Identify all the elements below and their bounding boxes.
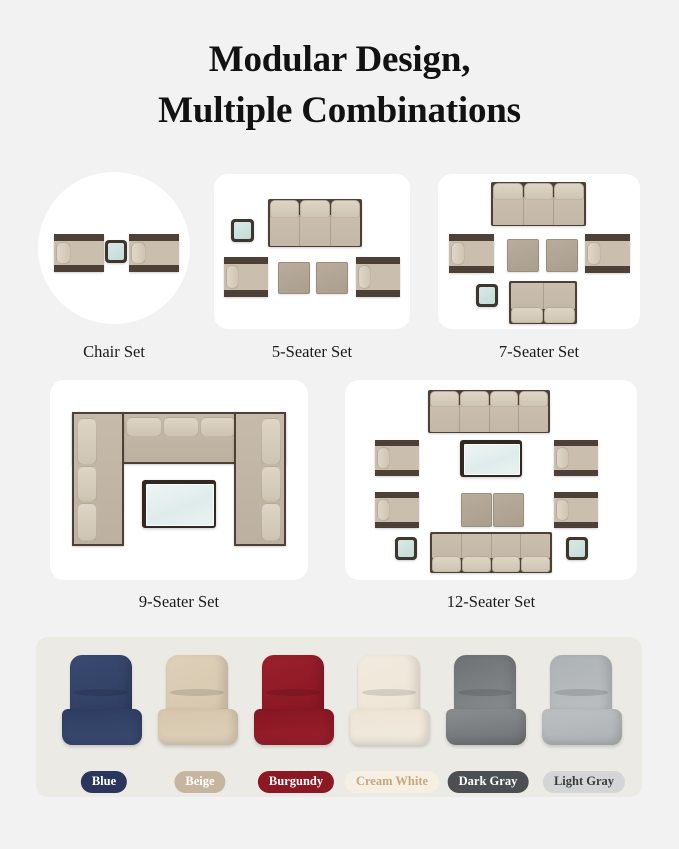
three-seat-sofa-piece	[268, 199, 362, 247]
color-label-light-gray[interactable]: Light Gray	[543, 771, 625, 793]
set-label-5-seater-set: 5-Seater Set	[212, 342, 412, 362]
chair-frame-rail-bottom	[375, 470, 419, 476]
cushion-seat	[446, 709, 526, 745]
color-swatch-burgundy[interactable]: Burgundy	[250, 655, 342, 763]
chair-frame-rail-top	[585, 234, 630, 241]
chair-arm-cushion	[377, 499, 390, 521]
chair-frame-rail-top	[356, 257, 400, 264]
ottoman-piece	[316, 262, 348, 294]
cushion-seat	[158, 709, 238, 745]
page-title-line-1: Modular Design,	[0, 34, 679, 85]
sectional-back-cushion	[261, 503, 281, 541]
chair-frame-rail-bottom	[554, 470, 598, 476]
color-swatch-cream-white[interactable]: Cream White	[346, 655, 438, 763]
sectional-back-cushion	[261, 466, 281, 502]
chair-frame-rail-bottom	[54, 265, 104, 272]
sofa-back-cushions	[270, 200, 360, 218]
chair-piece	[554, 492, 598, 528]
chair-piece	[54, 234, 104, 272]
chair-piece	[449, 234, 494, 273]
sofa-seat	[432, 534, 550, 558]
cushion-crease	[170, 689, 224, 696]
sectional-back-cushion	[77, 503, 97, 541]
cushion-crease	[74, 689, 128, 696]
set-label-chair-set: Chair Set	[10, 342, 218, 362]
set-card-7-seater-set[interactable]	[438, 174, 640, 329]
cushion-seat	[542, 709, 622, 745]
cushion-illustration	[442, 655, 534, 747]
sofa-back-cushions	[432, 556, 550, 572]
cushion-backrest	[454, 655, 516, 717]
four-seat-sofa-piece	[428, 390, 550, 433]
cushion-crease	[458, 689, 512, 696]
set-label-7-seater-set: 7-Seater Set	[438, 342, 640, 362]
cushion-backrest	[358, 655, 420, 717]
color-swatch-dark-gray[interactable]: Dark Gray	[442, 655, 534, 763]
cushion-illustration	[154, 655, 246, 747]
sofa-seat	[430, 405, 548, 432]
chair-arm-cushion	[556, 447, 569, 469]
chair-piece	[129, 234, 179, 272]
cushion-seat	[350, 709, 430, 745]
color-label-burgundy[interactable]: Burgundy	[258, 771, 334, 793]
chair-frame-rail-top	[449, 234, 494, 241]
color-swatch-blue[interactable]: Blue	[58, 655, 150, 763]
chair-frame-rail-bottom	[356, 290, 400, 297]
ottoman-piece	[546, 239, 578, 272]
color-swatch-beige[interactable]: Beige	[154, 655, 246, 763]
chair-arm-cushion	[451, 242, 465, 265]
two-seat-sofa-piece	[509, 281, 577, 324]
three-seat-sofa-piece	[491, 182, 586, 226]
sectional-back-cushion	[200, 417, 236, 437]
chair-frame-rail-bottom	[224, 290, 268, 297]
set-label-12-seater-set: 12-Seater Set	[345, 592, 637, 612]
chair-frame-rail-top	[54, 234, 104, 241]
ottoman-piece	[461, 493, 492, 527]
set-label-9-seater-set: 9-Seater Set	[50, 592, 308, 612]
cushion-illustration	[538, 655, 630, 747]
color-label-dark-gray[interactable]: Dark Gray	[448, 771, 529, 793]
sofa-back-cushions	[511, 307, 575, 323]
chair-piece	[224, 257, 268, 297]
set-card-chair-set[interactable]	[38, 172, 190, 324]
chair-arm-cushion	[226, 265, 239, 289]
sectional-back-cushion	[77, 466, 97, 502]
chair-frame-rail-top	[375, 492, 419, 498]
chair-arm-cushion	[587, 242, 601, 265]
chair-piece	[375, 440, 419, 476]
ottoman-piece	[493, 493, 524, 527]
color-label-beige[interactable]: Beige	[174, 771, 225, 793]
chair-frame-rail-top	[375, 440, 419, 446]
side-table-glass-top	[569, 540, 585, 557]
color-label-cream-white[interactable]: Cream White	[345, 771, 439, 793]
side-table-piece	[476, 284, 498, 307]
chair-piece	[375, 492, 419, 528]
ottoman-piece	[507, 239, 539, 272]
chair-arm-cushion	[131, 242, 146, 265]
cushion-backrest	[166, 655, 228, 717]
chair-frame-rail-top	[554, 492, 598, 498]
sectional-back-cushion	[77, 418, 97, 465]
chair-frame-rail-bottom	[554, 522, 598, 528]
chair-frame-rail-bottom	[585, 266, 630, 273]
cushion-backrest	[550, 655, 612, 717]
sectional-segment-left	[72, 412, 124, 546]
chair-frame-rail-bottom	[129, 265, 179, 272]
cushion-backrest	[70, 655, 132, 717]
cushion-seat	[62, 709, 142, 745]
chair-arm-cushion	[377, 447, 390, 469]
sofa-seat	[511, 283, 575, 309]
chair-arm-cushion	[358, 265, 371, 289]
cushion-crease	[266, 689, 320, 696]
side-table-glass-top	[234, 222, 251, 239]
coffee-table-glass-top	[146, 484, 214, 526]
chair-arm-cushion	[56, 242, 71, 265]
sectional-segment-right	[234, 412, 286, 546]
side-table-piece	[105, 240, 127, 263]
chair-frame-rail-top	[554, 440, 598, 446]
four-seat-sofa-piece	[430, 532, 552, 573]
color-swatch-light-gray[interactable]: Light Gray	[538, 655, 630, 763]
sectional-back-cushion	[261, 418, 281, 465]
sofa-seat	[270, 215, 360, 246]
chair-piece	[585, 234, 630, 273]
set-card-5-seater-set[interactable]	[214, 174, 410, 329]
side-table-piece	[395, 537, 417, 560]
chair-frame-rail-bottom	[375, 522, 419, 528]
cushion-seat	[254, 709, 334, 745]
sectional-back-cushion	[163, 417, 199, 437]
chair-arm-cushion	[556, 499, 569, 521]
side-table-piece	[566, 537, 588, 560]
coffee-table-glass-top	[464, 444, 520, 475]
chair-frame-rail-bottom	[449, 266, 494, 273]
glass-coffee-table-piece	[460, 440, 522, 477]
chair-frame-rail-top	[224, 257, 268, 264]
sofa-back-cushions	[493, 183, 584, 200]
cushion-backrest	[262, 655, 324, 717]
side-table-glass-top	[479, 287, 495, 304]
cushion-illustration	[250, 655, 342, 747]
cushion-illustration	[346, 655, 438, 747]
side-table-glass-top	[108, 243, 124, 260]
set-card-9-seater-set[interactable]	[50, 380, 308, 580]
page-title: Modular Design, Multiple Combinations	[0, 34, 679, 136]
sectional-back-cushion	[126, 417, 162, 437]
color-options-panel: Blue Beige Burgundy Cream White	[36, 637, 642, 797]
cushion-crease	[362, 689, 416, 696]
side-table-glass-top	[398, 540, 414, 557]
chair-piece	[356, 257, 400, 297]
chair-piece	[554, 440, 598, 476]
sofa-seat	[493, 197, 584, 225]
cushion-illustration	[58, 655, 150, 747]
page-title-line-2: Multiple Combinations	[0, 85, 679, 136]
side-table-piece	[231, 219, 254, 242]
set-card-12-seater-set[interactable]	[345, 380, 637, 580]
glass-coffee-table-piece	[142, 480, 216, 528]
cushion-crease	[554, 689, 608, 696]
chair-frame-rail-top	[129, 234, 179, 241]
sofa-back-cushions	[430, 391, 548, 407]
color-label-blue[interactable]: Blue	[81, 771, 127, 793]
ottoman-piece	[278, 262, 310, 294]
